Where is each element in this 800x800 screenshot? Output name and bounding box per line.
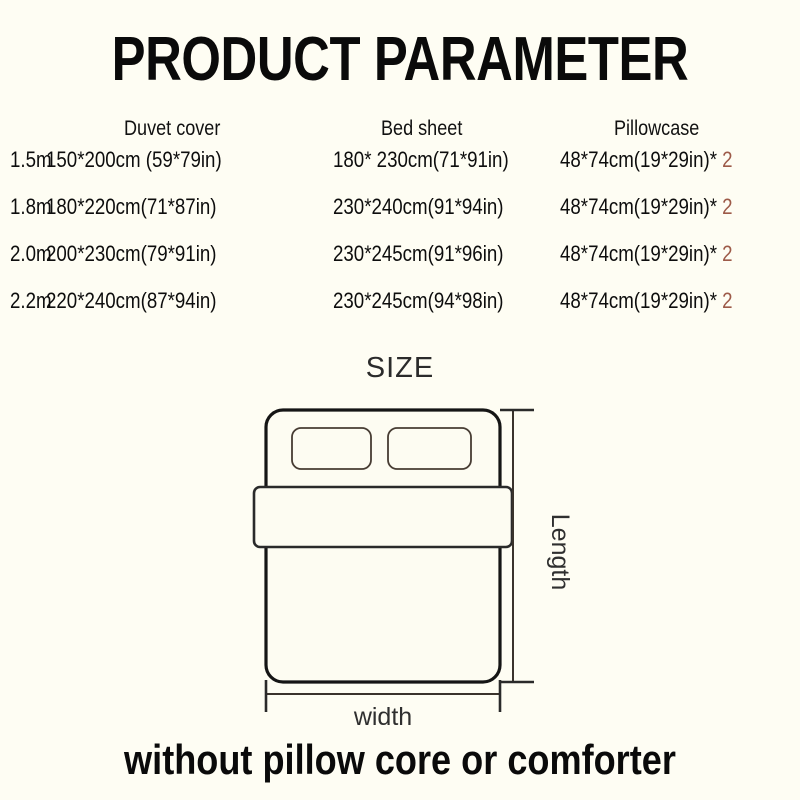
pillowcase-quantity: 2 xyxy=(722,288,732,313)
cell-bed-sheet: 180* 230cm(71*91in) xyxy=(333,146,509,174)
cell-duvet-cover: 180*220cm(71*87in) xyxy=(46,193,216,221)
footer-caption: without pillow core or comforter xyxy=(56,735,744,785)
table-header-row: Duvet cover Bed sheet Pillowcase xyxy=(0,116,800,146)
cell-pillowcase: 48*74cm(19*29in)* 2 xyxy=(560,240,733,268)
cell-duvet-cover: 200*230cm(79*91in) xyxy=(46,240,216,268)
cell-pillowcase: 48*74cm(19*29in)* 2 xyxy=(560,193,733,221)
cell-pillowcase: 48*74cm(19*29in)* 2 xyxy=(560,287,733,315)
blanket-band xyxy=(254,487,512,547)
pillow-right-icon xyxy=(388,428,471,469)
column-header-pillowcase: Pillowcase xyxy=(614,116,699,142)
width-label: width xyxy=(353,703,412,731)
table-row: 2.2m 220*240cm(87*94in) 230*245cm(94*98i… xyxy=(0,287,800,334)
specification-table: Duvet cover Bed sheet Pillowcase 1.5m 15… xyxy=(0,116,800,334)
cell-duvet-cover: 220*240cm(87*94in) xyxy=(46,287,216,315)
table-row: 2.0m 200*230cm(79*91in) 230*245cm(91*96i… xyxy=(0,240,800,287)
length-label: Length xyxy=(546,514,574,590)
pillowcase-quantity: 2 xyxy=(722,194,732,219)
pillow-left-icon xyxy=(292,428,371,469)
size-section-label: SIZE xyxy=(0,351,800,385)
table-row: 1.5m 150*200cm (59*79in) 180* 230cm(71*9… xyxy=(0,146,800,193)
cell-duvet-cover: 150*200cm (59*79in) xyxy=(46,146,222,174)
cell-bed-sheet: 230*240cm(91*94in) xyxy=(333,193,503,221)
column-header-bed-sheet: Bed sheet xyxy=(381,116,462,142)
column-header-duvet-cover: Duvet cover xyxy=(124,116,220,142)
bed-size-diagram: Length width xyxy=(0,392,800,732)
pillowcase-quantity: 2 xyxy=(722,147,732,172)
product-parameter-infographic: PRODUCT PARAMETER Duvet cover Bed sheet … xyxy=(0,0,800,800)
pillowcase-quantity: 2 xyxy=(722,241,732,266)
page-title: PRODUCT PARAMETER xyxy=(72,26,728,94)
pillowcase-dimensions: 48*74cm(19*29in)* xyxy=(560,147,717,172)
pillowcase-dimensions: 48*74cm(19*29in)* xyxy=(560,241,717,266)
table-row: 1.8m 180*220cm(71*87in) 230*240cm(91*94i… xyxy=(0,193,800,240)
cell-bed-sheet: 230*245cm(94*98in) xyxy=(333,287,503,315)
cell-pillowcase: 48*74cm(19*29in)* 2 xyxy=(560,146,733,174)
pillowcase-dimensions: 48*74cm(19*29in)* xyxy=(560,288,717,313)
cell-bed-sheet: 230*245cm(91*96in) xyxy=(333,240,503,268)
pillowcase-dimensions: 48*74cm(19*29in)* xyxy=(560,194,717,219)
